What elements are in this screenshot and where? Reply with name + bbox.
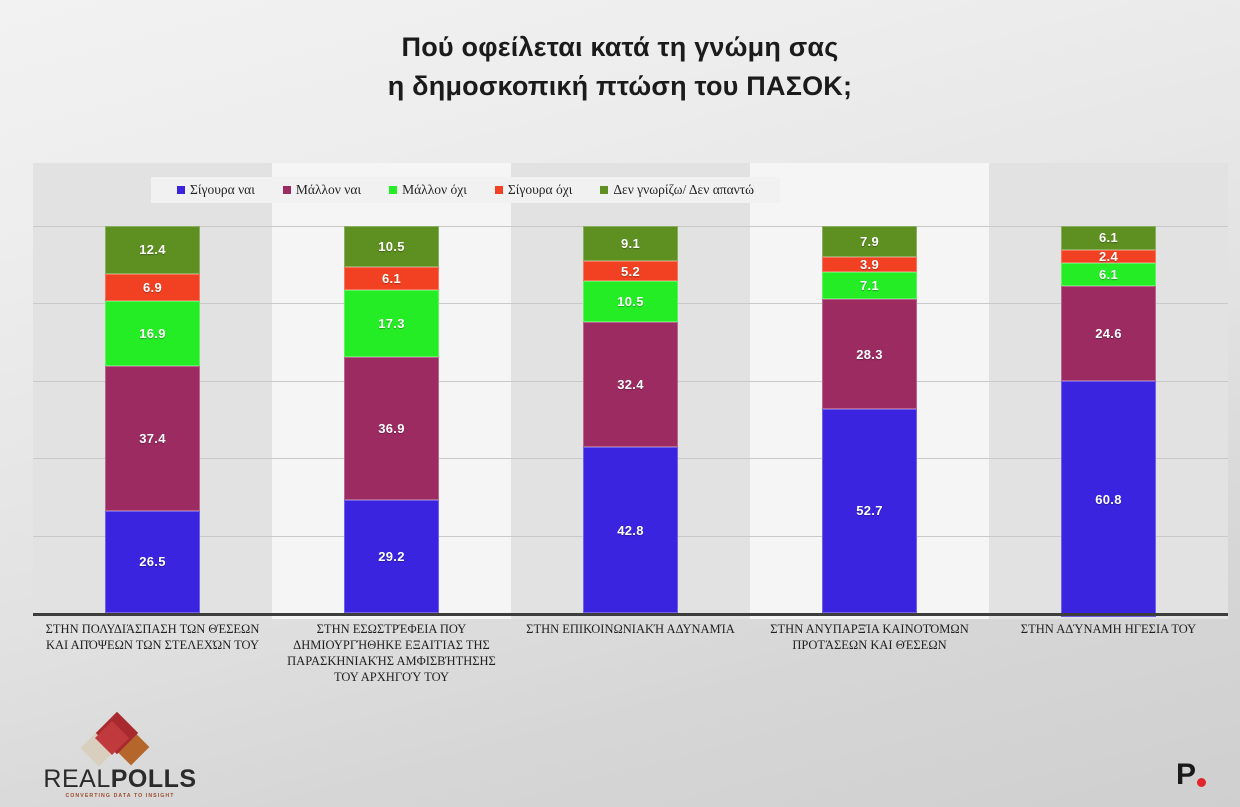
bar-segment[interactable]: 3.9	[822, 257, 917, 272]
chart-legend: Σίγουρα ναιΜάλλον ναιΜάλλον όχιΣίγουρα ό…	[151, 177, 780, 203]
bar-value-label: 24.6	[1095, 327, 1122, 340]
legend-item-0[interactable]: Σίγουρα ναι	[177, 182, 255, 198]
bar-segment[interactable]: 12.4	[105, 226, 200, 274]
legend-swatch-icon	[283, 186, 291, 194]
legend-item-3[interactable]: Σίγουρα όχι	[495, 182, 572, 198]
bar-segment[interactable]: 17.3	[344, 290, 439, 357]
realpolls-logo: REALPOLLS CONVERTING DATA TO INSIGHT	[36, 718, 204, 796]
bar-segment[interactable]: 6.1	[344, 267, 439, 291]
title-line-1: Πού οφείλεται κατά τη γνώμη σας	[0, 28, 1240, 67]
bar-segment[interactable]: 36.9	[344, 357, 439, 500]
bar-value-label: 7.1	[860, 279, 879, 292]
category-label-1: ΣΤΗΝ ΕΣΩΣΤΡΈΦΕΙΑ ΠΟΥ ΔΗΜΙΟΥΡΓΉΘΗΚΕ ΕΞΑΙΤ…	[272, 621, 511, 685]
p-logo: P	[1176, 760, 1216, 794]
title-line-2: η δημοσκοπική πτώση του ΠΑΣΟΚ;	[0, 67, 1240, 106]
legend-swatch-icon	[600, 186, 608, 194]
bar-value-label: 29.2	[378, 550, 405, 563]
bar-value-label: 6.1	[1099, 268, 1118, 281]
bar-segment[interactable]: 2.4	[1061, 250, 1156, 263]
bar-value-label: 42.8	[617, 524, 644, 537]
p-logo-letter: P	[1176, 758, 1196, 791]
bar-segment[interactable]: 7.9	[822, 226, 917, 257]
bar-segment[interactable]: 6.9	[105, 274, 200, 301]
realpolls-wordmark: REALPOLLS	[36, 766, 204, 792]
bar-value-label: 32.4	[617, 378, 644, 391]
category-label-2: ΣΤΗΝ ΕΠΙΚΟΙΝΩΝΙΑΚΉ ΑΔΥΝΑΜΊΑ	[511, 621, 750, 685]
bar-value-label: 6.1	[382, 272, 401, 285]
bar-value-label: 10.5	[378, 240, 405, 253]
bar-segment[interactable]: 24.6	[1061, 286, 1156, 381]
bar-segment[interactable]: 26.5	[105, 511, 200, 613]
legend-item-2[interactable]: Μάλλον όχι	[389, 182, 467, 198]
bar-value-label: 2.4	[1099, 250, 1118, 263]
bar-segment[interactable]: 16.9	[105, 301, 200, 366]
bar-value-label: 36.9	[378, 422, 405, 435]
bar-segment[interactable]: 42.8	[583, 447, 678, 613]
bar-value-label: 12.4	[139, 243, 166, 256]
bar-value-label: 28.3	[856, 348, 883, 361]
realpolls-cubes-icon	[80, 718, 160, 764]
page-title: Πού οφείλεται κατά τη γνώμη σας η δημοσκ…	[0, 28, 1240, 106]
bar-value-label: 26.5	[139, 555, 166, 568]
stacked-bar[interactable]: 7.93.97.128.352.7	[822, 226, 917, 613]
legend-swatch-icon	[177, 186, 185, 194]
bar-segment[interactable]: 9.1	[583, 226, 678, 261]
bar-value-label: 52.7	[856, 504, 883, 517]
bar-value-label: 7.9	[860, 235, 879, 248]
bar-value-label: 60.8	[1095, 493, 1122, 506]
bar-value-label: 10.5	[617, 295, 644, 308]
stacked-bar[interactable]: 9.15.210.532.442.8	[583, 226, 678, 613]
bar-segment[interactable]: 28.3	[822, 299, 917, 409]
stacked-bar[interactable]: 12.46.916.937.426.5	[105, 226, 200, 613]
bar-segment[interactable]: 10.5	[583, 281, 678, 322]
bar-value-label: 37.4	[139, 432, 166, 445]
legend-item-label: Μάλλον όχι	[402, 182, 467, 198]
bar-value-label: 6.1	[1099, 231, 1118, 244]
realpolls-word-polls: POLLS	[111, 765, 197, 793]
bar-segment[interactable]: 6.1	[1061, 226, 1156, 250]
legend-item-label: Μάλλον ναι	[296, 182, 361, 198]
bar-value-label: 9.1	[621, 237, 640, 250]
legend-swatch-icon	[495, 186, 503, 194]
legend-item-1[interactable]: Μάλλον ναι	[283, 182, 361, 198]
bar-segment[interactable]: 10.5	[344, 226, 439, 267]
x-axis-category-labels: ΣΤΗΝ ΠΟΛΥΔΙΆΣΠΑΣΗ ΤΩΝ ΘΈΣΕΩΝ ΚΑΙ ΑΠΌΨΕΩΝ…	[33, 621, 1228, 685]
bar-segment[interactable]: 29.2	[344, 500, 439, 613]
realpolls-tagline: CONVERTING DATA TO INSIGHT	[36, 793, 204, 799]
bar-column-4[interactable]: 6.12.46.124.660.8	[989, 226, 1228, 613]
bar-value-label: 5.2	[621, 265, 640, 278]
bar-value-label: 3.9	[860, 258, 879, 271]
p-logo-dot-icon	[1197, 778, 1206, 787]
bar-column-2[interactable]: 9.15.210.532.442.8	[511, 226, 750, 613]
chart-plot-area: 12.46.916.937.426.510.56.117.336.929.29.…	[33, 226, 1228, 613]
legend-item-label: Δεν γνωρίζω/ Δεν απαντώ	[613, 182, 754, 198]
stacked-bar[interactable]: 6.12.46.124.660.8	[1061, 226, 1156, 613]
bar-segment[interactable]: 52.7	[822, 409, 917, 613]
bar-value-label: 17.3	[378, 317, 405, 330]
legend-item-label: Σίγουρα ναι	[190, 182, 255, 198]
bar-segment[interactable]: 37.4	[105, 366, 200, 511]
category-label-4: ΣΤΗΝ ΑΔΎΝΑΜΗ ΗΓΕΣΙΑ ΤΟΥ	[989, 621, 1228, 685]
bar-column-0[interactable]: 12.46.916.937.426.5	[33, 226, 272, 613]
bar-value-label: 6.9	[143, 281, 162, 294]
legend-item-4[interactable]: Δεν γνωρίζω/ Δεν απαντώ	[600, 182, 754, 198]
bar-column-3[interactable]: 7.93.97.128.352.7	[750, 226, 989, 613]
realpolls-word-real: REAL	[43, 765, 110, 793]
category-label-0: ΣΤΗΝ ΠΟΛΥΔΙΆΣΠΑΣΗ ΤΩΝ ΘΈΣΕΩΝ ΚΑΙ ΑΠΌΨΕΩΝ…	[33, 621, 272, 685]
bar-segment[interactable]: 7.1	[822, 272, 917, 300]
category-label-3: ΣΤΗΝ ΑΝΥΠΑΡΞΊΑ ΚΑΙΝΟΤΌΜΩΝ ΠΡΟΤΆΣΕΩΝ ΚΑΙ …	[750, 621, 989, 685]
x-axis-line	[33, 613, 1228, 616]
chart-container: Σίγουρα ναιΜάλλον ναιΜάλλον όχιΣίγουρα ό…	[33, 163, 1228, 619]
legend-swatch-icon	[389, 186, 397, 194]
legend-item-label: Σίγουρα όχι	[508, 182, 572, 198]
stacked-bar[interactable]: 10.56.117.336.929.2	[344, 226, 439, 613]
bar-segment[interactable]: 32.4	[583, 322, 678, 447]
bar-segment[interactable]: 60.8	[1061, 381, 1156, 616]
bar-segment[interactable]: 6.1	[1061, 263, 1156, 287]
bar-column-1[interactable]: 10.56.117.336.929.2	[272, 226, 511, 613]
bar-value-label: 16.9	[139, 327, 166, 340]
bar-segment[interactable]: 5.2	[583, 261, 678, 281]
